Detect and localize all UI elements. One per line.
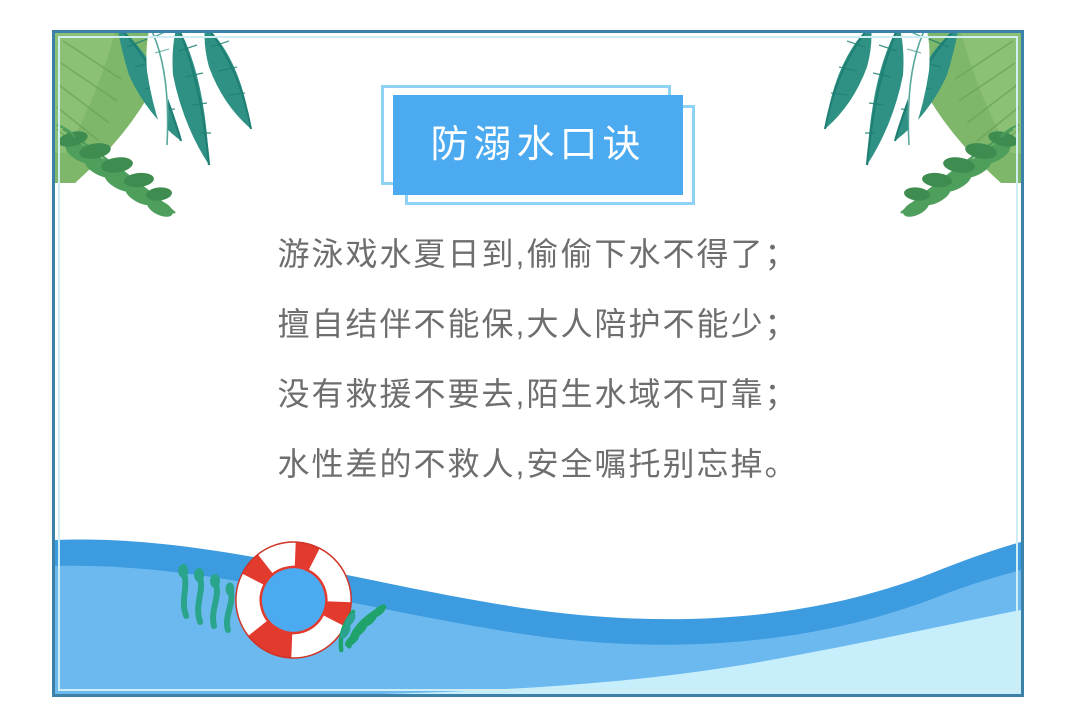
title-block: 防溺水口诀 bbox=[55, 95, 1021, 225]
verse-body: 游泳戏水夏日到,偷偷下水不得了； 擅自结伴不能保,大人陪护不能少； 没有救援不要… bbox=[55, 238, 1021, 480]
page-title: 防溺水口诀 bbox=[430, 126, 645, 164]
verse-line: 游泳戏水夏日到,偷偷下水不得了； bbox=[55, 238, 1021, 270]
verse-line: 擅自结伴不能保,大人陪护不能少； bbox=[55, 308, 1021, 340]
poster-card: 防溺水口诀 游泳戏水夏日到,偷偷下水不得了； 擅自结伴不能保,大人陪护不能少； … bbox=[52, 30, 1024, 697]
verse-line: 水性差的不救人,安全嘱托别忘掉。 bbox=[55, 448, 1021, 480]
water-scene bbox=[55, 504, 1021, 694]
title-banner: 防溺水口诀 bbox=[393, 95, 683, 195]
verse-line: 没有救援不要去,陌生水域不可靠； bbox=[55, 378, 1021, 410]
